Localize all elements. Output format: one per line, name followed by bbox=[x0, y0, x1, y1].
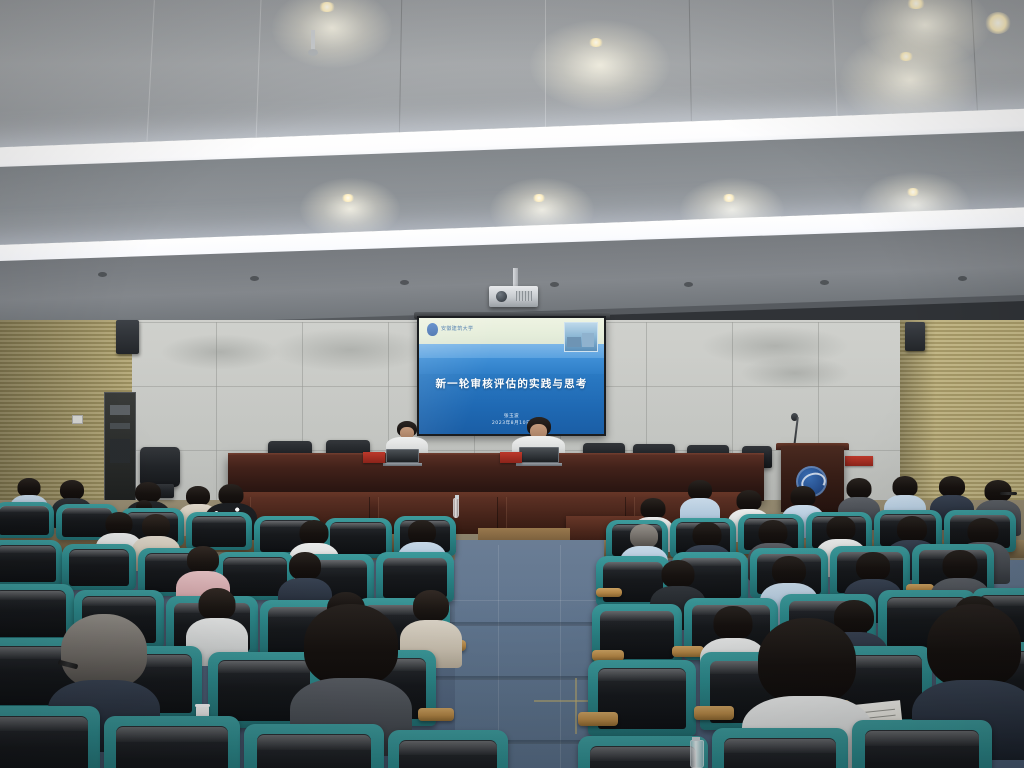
person-head bbox=[968, 518, 999, 544]
seat-armrest bbox=[578, 712, 618, 726]
person-head bbox=[791, 486, 816, 507]
floor-marking bbox=[575, 678, 577, 734]
floor-tile-line bbox=[440, 600, 620, 601]
person-head bbox=[199, 588, 236, 620]
recessed-light bbox=[250, 276, 259, 281]
eyeglasses bbox=[1000, 492, 1017, 495]
person-head bbox=[827, 516, 856, 541]
person-head bbox=[61, 614, 147, 688]
wall-speaker-left bbox=[116, 320, 139, 354]
downlight bbox=[318, 2, 336, 12]
person-head bbox=[688, 480, 712, 500]
person-head bbox=[856, 552, 890, 581]
downlight bbox=[532, 194, 546, 202]
recessed-light bbox=[684, 282, 693, 287]
seat-armrest bbox=[418, 708, 454, 721]
wall-stain bbox=[160, 334, 280, 370]
person-head bbox=[759, 520, 788, 545]
downlight bbox=[588, 38, 604, 47]
person-head bbox=[413, 590, 449, 622]
person-head bbox=[641, 498, 666, 519]
auditorium-seat[interactable] bbox=[0, 502, 54, 538]
ceiling-seam bbox=[545, 0, 546, 140]
laptop-base bbox=[383, 463, 422, 466]
downlight bbox=[906, 188, 920, 196]
person-head bbox=[300, 520, 329, 545]
person-head bbox=[985, 480, 1012, 502]
person-head bbox=[847, 478, 872, 499]
name-plate-right bbox=[500, 452, 522, 463]
wall-stain bbox=[270, 328, 430, 372]
person-head bbox=[927, 604, 1021, 688]
person-head bbox=[758, 618, 856, 704]
person-head bbox=[737, 490, 762, 511]
recessed-light bbox=[958, 276, 967, 281]
recessed-light bbox=[400, 280, 409, 285]
auditorium-seat[interactable] bbox=[0, 706, 100, 768]
floor-marking bbox=[534, 700, 594, 702]
wall-speaker-right bbox=[905, 322, 925, 351]
person-head bbox=[106, 512, 133, 535]
university-logo-mark-icon bbox=[427, 323, 438, 336]
auditorium-seat[interactable] bbox=[0, 540, 62, 586]
auditorium-seat[interactable] bbox=[244, 724, 384, 768]
name-plate-side bbox=[845, 456, 873, 466]
person-head bbox=[893, 476, 918, 497]
person-head bbox=[630, 524, 658, 548]
slide-presenter-name: 张玉波 bbox=[504, 414, 519, 419]
laptop-right bbox=[519, 447, 559, 463]
seat-armrest bbox=[694, 706, 734, 720]
projector-vent bbox=[516, 291, 532, 301]
slide-date: 2023年8月10日 bbox=[492, 421, 531, 426]
person-head bbox=[289, 552, 321, 580]
slide-band-mid bbox=[419, 358, 604, 374]
person-head bbox=[142, 514, 170, 538]
person-head bbox=[187, 546, 219, 573]
person-head bbox=[943, 550, 978, 580]
slide-presenter: 张玉波 2023年8月10日 bbox=[419, 414, 604, 428]
person-head bbox=[60, 480, 84, 500]
auditorium-seat[interactable] bbox=[578, 736, 708, 768]
auditorium-seat[interactable] bbox=[186, 512, 252, 550]
laptop-base bbox=[516, 463, 562, 466]
lecture-hall-photo: 安徽建筑大学 新一轮审核评估的实践与思考 张玉波 2023年8月10日 bbox=[0, 0, 1024, 768]
slide-title: 新一轮审核评估的实践与思考 bbox=[419, 376, 604, 391]
person-head bbox=[939, 476, 965, 497]
person-head bbox=[897, 516, 927, 542]
slide-logo-text: 安徽建筑大学 bbox=[441, 326, 473, 332]
person-head bbox=[219, 484, 244, 505]
thumbnail-shape bbox=[567, 337, 581, 347]
sprinkler-head bbox=[311, 30, 315, 52]
name-plate-left bbox=[363, 452, 385, 463]
seat-armrest bbox=[596, 588, 622, 597]
auditorium-seat[interactable] bbox=[852, 720, 992, 768]
laptop-lid bbox=[519, 447, 559, 463]
projector-lens-icon bbox=[496, 291, 507, 302]
person-head bbox=[408, 520, 436, 544]
side-office-chair bbox=[140, 447, 180, 487]
downlight bbox=[722, 194, 736, 202]
auditorium-seat[interactable] bbox=[388, 730, 508, 768]
recessed-light bbox=[820, 280, 829, 285]
downlight bbox=[898, 52, 914, 61]
wall-stain bbox=[740, 356, 850, 390]
auditorium-seat[interactable] bbox=[104, 716, 240, 768]
floor-tile-line bbox=[560, 545, 561, 768]
downlight bbox=[985, 12, 1011, 34]
person-head bbox=[693, 522, 722, 547]
person-head bbox=[304, 604, 398, 686]
water-bottle-floor bbox=[690, 740, 704, 768]
laptop-lid bbox=[386, 449, 419, 463]
auditorium-seat[interactable] bbox=[712, 728, 848, 768]
thumbnail-shape bbox=[582, 333, 594, 347]
water-bottle-table bbox=[453, 498, 459, 518]
downlight bbox=[341, 194, 355, 202]
recessed-light bbox=[550, 282, 559, 287]
recessed-light bbox=[98, 272, 107, 277]
slide-photo-thumbnail bbox=[564, 322, 598, 352]
person-head bbox=[662, 560, 695, 588]
wall-socket bbox=[72, 415, 83, 424]
projection-screen: 安徽建筑大学 新一轮审核评估的实践与思考 张玉波 2023年8月10日 bbox=[419, 318, 604, 434]
laptop-left bbox=[386, 449, 419, 463]
slide-logo: 安徽建筑大学 bbox=[427, 323, 473, 336]
person-head bbox=[772, 556, 806, 585]
